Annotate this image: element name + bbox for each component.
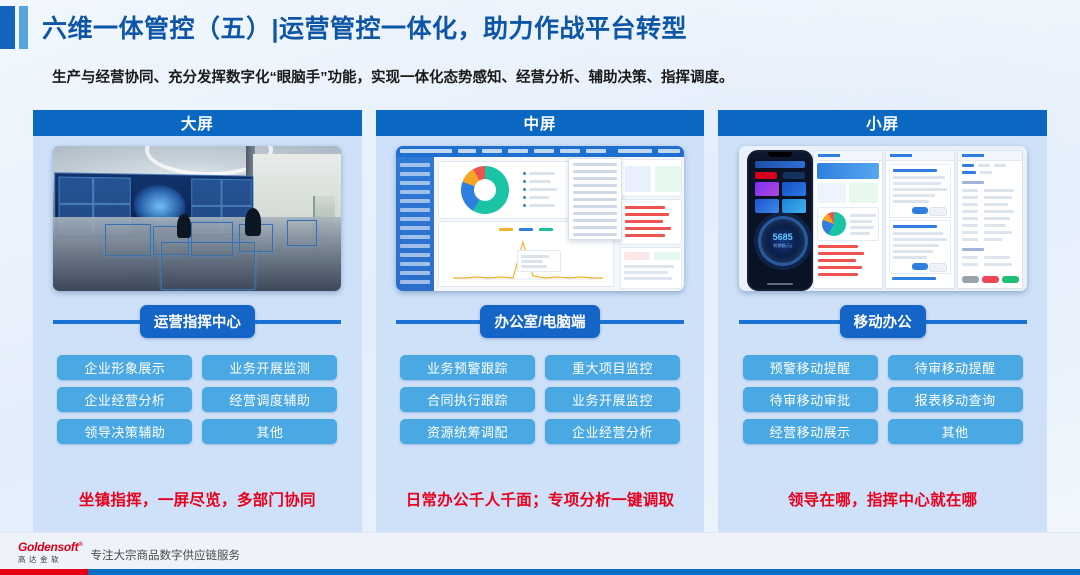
dashboard-topbar (396, 146, 684, 157)
button-grid-large: 企业形象展示 业务开展监测 企业经营分析 经营调度辅助 领导决策辅助 其他 (57, 355, 337, 444)
tag-button-2[interactable]: 合同执行跟踪 (400, 387, 535, 412)
slide-root: 六维一体管控（五）|运营管控一体化，助力作战平台转型 生产与经营协同、充分发挥数… (0, 0, 1080, 575)
tag-button-5[interactable]: 其他 (888, 419, 1023, 444)
detail-button-cancel[interactable] (962, 276, 979, 283)
mobile-pane-detail (957, 150, 1023, 289)
kpi-card (620, 159, 682, 197)
wall-cell (59, 177, 94, 204)
pill-row-small: 移动办公 (739, 305, 1027, 338)
notch (768, 152, 792, 157)
button-grid-small: 预警移动提醒 待审移动提醒 待审移动审批 报表移动查询 经营移动展示 其他 (743, 355, 1023, 444)
phone-device: 5685 转换额(元) (747, 150, 813, 291)
dashboard-mock (396, 146, 684, 291)
tag-button-5[interactable]: 企业经营分析 (545, 419, 680, 444)
columns-container: 大屏 (33, 110, 1047, 532)
tagline-medium: 日常办公千人千面；专项分析一键调取 (376, 488, 705, 510)
operations-command-center-photo (53, 146, 341, 291)
home-indicator (767, 283, 793, 285)
person-silhouette (177, 214, 191, 238)
column-large-screen: 大屏 (33, 110, 362, 532)
donut-chart (461, 166, 509, 214)
logo-chinese: 高达金软 (18, 555, 82, 564)
tag-button-0[interactable]: 企业形象展示 (57, 355, 192, 380)
pill-line-right (926, 320, 1027, 324)
monitor (105, 224, 151, 256)
column-body-small: 5685 转换额(元) (718, 136, 1047, 532)
tag-button-4[interactable]: 经营移动展示 (743, 419, 878, 444)
banner (817, 163, 879, 179)
approve-button[interactable] (912, 207, 928, 214)
reject-button[interactable] (929, 263, 947, 272)
date-chip (783, 172, 805, 179)
footer-slogan: 专注大宗商品数字供应链服务 (90, 547, 240, 563)
registered-mark-icon: ® (78, 542, 82, 548)
footer-stripe-red (0, 569, 88, 575)
column-body-large: 运营指挥中心 企业形象展示 业务开展监测 企业经营分析 经营调度辅助 领导决策辅… (33, 136, 362, 532)
dashboard-rightpanel (618, 157, 684, 291)
tagline-small: 领导在哪，指挥中心就在哪 (718, 488, 1047, 510)
foreground-monitor (161, 242, 255, 290)
mini-donut (822, 212, 846, 236)
pill-row-medium: 办公室/电脑端 (396, 305, 684, 338)
footer-logo: Goldensoft® 高达金软 专注大宗商品数字供应链服务 (18, 539, 240, 564)
pill-label-operations-center: 运营指挥中心 (140, 305, 255, 338)
column-header-small: 小屏 (718, 110, 1047, 136)
dashboard-sidebar (396, 157, 434, 291)
detail-button-approve[interactable] (1002, 276, 1019, 283)
chart-tooltip (517, 250, 561, 272)
button-grid-medium: 业务预警跟踪 重大项目监控 合同执行跟踪 业务开展监控 资源统筹调配 企业经营分… (400, 355, 680, 444)
slide-title-row: 六维一体管控（五）|运营管控一体化，助力作战平台转型 (0, 5, 687, 49)
footer-stripe-blue (88, 569, 1080, 575)
list-item[interactable] (889, 220, 951, 274)
slide-footer: Goldensoft® 高达金软 专注大宗商品数字供应链服务 (0, 532, 1080, 575)
gauge-value: 5685 (761, 232, 805, 242)
footer-stripe (0, 569, 1080, 575)
room-backdrop (53, 146, 341, 291)
tag-button-4[interactable]: 资源统筹调配 (400, 419, 535, 444)
logo-block: Goldensoft® 高达金软 (18, 539, 82, 564)
wall-cell (192, 178, 222, 206)
column-header-medium: 中屏 (376, 110, 705, 136)
alert-list-card (620, 199, 682, 245)
donut-tile (817, 207, 879, 241)
tag-button-1[interactable]: 业务开展监测 (202, 355, 337, 380)
logo-english-text: Goldensoft (18, 540, 78, 554)
column-medium-screen: 中屏 (376, 110, 705, 532)
mobile-pane-list (885, 150, 955, 289)
kpi-tile-0 (755, 182, 779, 196)
logo-english: Goldensoft® (18, 539, 82, 553)
person-silhouette (245, 208, 261, 236)
tag-button-1[interactable]: 待审移动提醒 (888, 355, 1023, 380)
slide-subtitle: 生产与经营协同、充分发挥数字化“眼脑手”功能，实现一体化态势感知、经营分析、辅助… (52, 66, 734, 87)
bi-dashboard-screenshot (396, 146, 684, 291)
approve-button[interactable] (912, 263, 928, 270)
pane-header (886, 151, 954, 161)
title-accent-bar-light (19, 6, 28, 49)
dropdown-menu[interactable] (568, 158, 622, 240)
page-title: 六维一体管控（五）|运营管控一体化，助力作战平台转型 (42, 9, 687, 45)
pill-line-left (53, 320, 140, 324)
mobile-pane-home (813, 150, 883, 289)
pill-row-large: 运营指挥中心 (53, 305, 341, 338)
tag-button-2[interactable]: 待审移动审批 (743, 387, 878, 412)
tab-card (620, 247, 682, 289)
tag-button-0[interactable]: 预警移动提醒 (743, 355, 878, 380)
pill-line-right (255, 320, 342, 324)
pill-label-office-pc: 办公室/电脑端 (480, 305, 599, 338)
mobile-app-screenshot: 5685 转换额(元) (739, 146, 1027, 291)
pill-line-left (739, 320, 840, 324)
pill-line-left (396, 320, 480, 324)
stat-tile (849, 183, 878, 203)
app-title-bar (755, 161, 805, 168)
kpi-tile-1 (782, 182, 806, 196)
reject-button[interactable] (929, 207, 947, 216)
pill-label-mobile-office: 移动办公 (840, 305, 926, 338)
title-accent-bar-dark (0, 6, 15, 49)
column-body-medium: 办公室/电脑端 业务预警跟踪 重大项目监控 合同执行跟踪 业务开展监控 资源统筹… (376, 136, 705, 532)
detail-button-reject[interactable] (982, 276, 999, 283)
kpi-tile-2 (755, 199, 779, 213)
stat-tile (817, 183, 846, 203)
tagline-large: 坐镇指挥，一屏尽览，多部门协同 (33, 488, 362, 510)
column-small-screen: 小屏 (718, 110, 1047, 532)
mobile-mock: 5685 转换额(元) (739, 146, 1027, 291)
monitor (287, 220, 317, 246)
tag-button-4[interactable]: 领导决策辅助 (57, 419, 192, 444)
tag-button-3[interactable]: 业务开展监控 (545, 387, 680, 412)
tag-button-5[interactable]: 其他 (202, 419, 337, 444)
gauge-caption: 转换额(元) (761, 243, 805, 249)
tag-button-3[interactable]: 报表移动查询 (888, 387, 1023, 412)
radial-gauge: 5685 转换额(元) (758, 216, 808, 266)
tag-button-3[interactable]: 经营调度辅助 (202, 387, 337, 412)
pane-header (814, 151, 882, 161)
tag-button-0[interactable]: 业务预警跟踪 (400, 355, 535, 380)
kpi-tile-3 (782, 199, 806, 213)
column-header-large: 大屏 (33, 110, 362, 136)
wall-cell (222, 179, 252, 206)
brand-mark (755, 172, 777, 179)
pane-header (958, 151, 1022, 161)
tag-button-1[interactable]: 重大项目监控 (545, 355, 680, 380)
tag-button-2[interactable]: 企业经营分析 (57, 387, 192, 412)
pill-line-right (600, 320, 684, 324)
wall-cell (93, 177, 131, 204)
list-item[interactable] (889, 164, 951, 218)
